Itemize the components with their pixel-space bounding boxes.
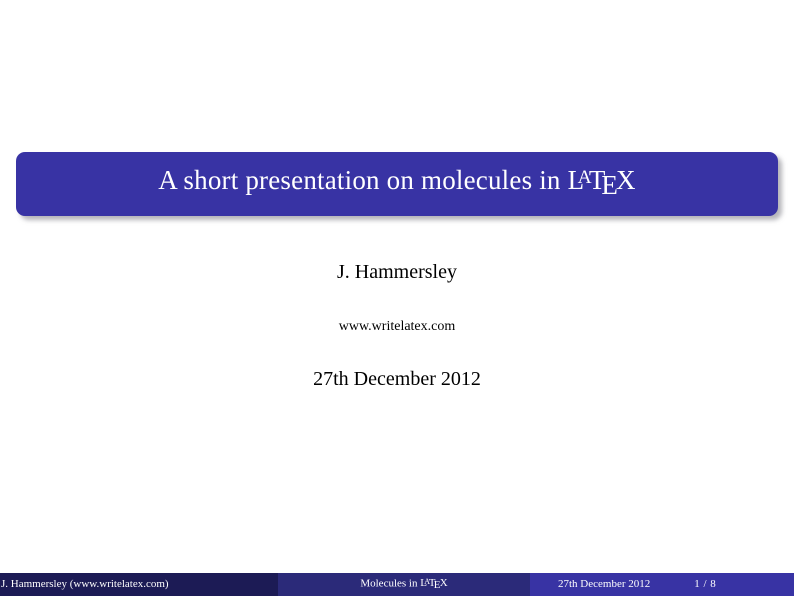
footer-page-number: 1 / 8 — [694, 579, 716, 590]
footer-author-cell: J. Hammersley (www.writelatex.com) — [0, 573, 278, 596]
slide-footer: J. Hammersley (www.writelatex.com) Molec… — [0, 573, 794, 596]
institute-name: www.writelatex.com — [0, 319, 794, 334]
title-block: A short presentation on molecules in LAT… — [16, 152, 778, 216]
footer-latex-logo: LATEX — [420, 577, 447, 589]
presentation-date: 27th December 2012 — [0, 368, 794, 390]
page-title: A short presentation on molecules in LAT… — [158, 167, 635, 202]
footer-author-label: J. Hammersley (www.writelatex.com) — [1, 579, 169, 590]
latex-logo: LATEX — [568, 165, 636, 195]
latex-logo-x: X — [616, 165, 636, 195]
footer-title-cell: Molecules in LATEX — [278, 573, 530, 596]
title-text-part: A short presentation on molecules in — [158, 165, 567, 195]
footer-latex-logo-x: X — [440, 577, 448, 589]
slide-canvas: A short presentation on molecules in LAT… — [0, 0, 794, 596]
footer-title-text-part: Molecules in — [360, 577, 420, 589]
footer-right-cell: 27th December 2012 1 / 8 — [530, 573, 794, 596]
author-name: J. Hammersley — [0, 261, 794, 283]
footer-title-label: Molecules in LATEX — [360, 578, 447, 592]
footer-date-label: 27th December 2012 — [558, 579, 650, 590]
